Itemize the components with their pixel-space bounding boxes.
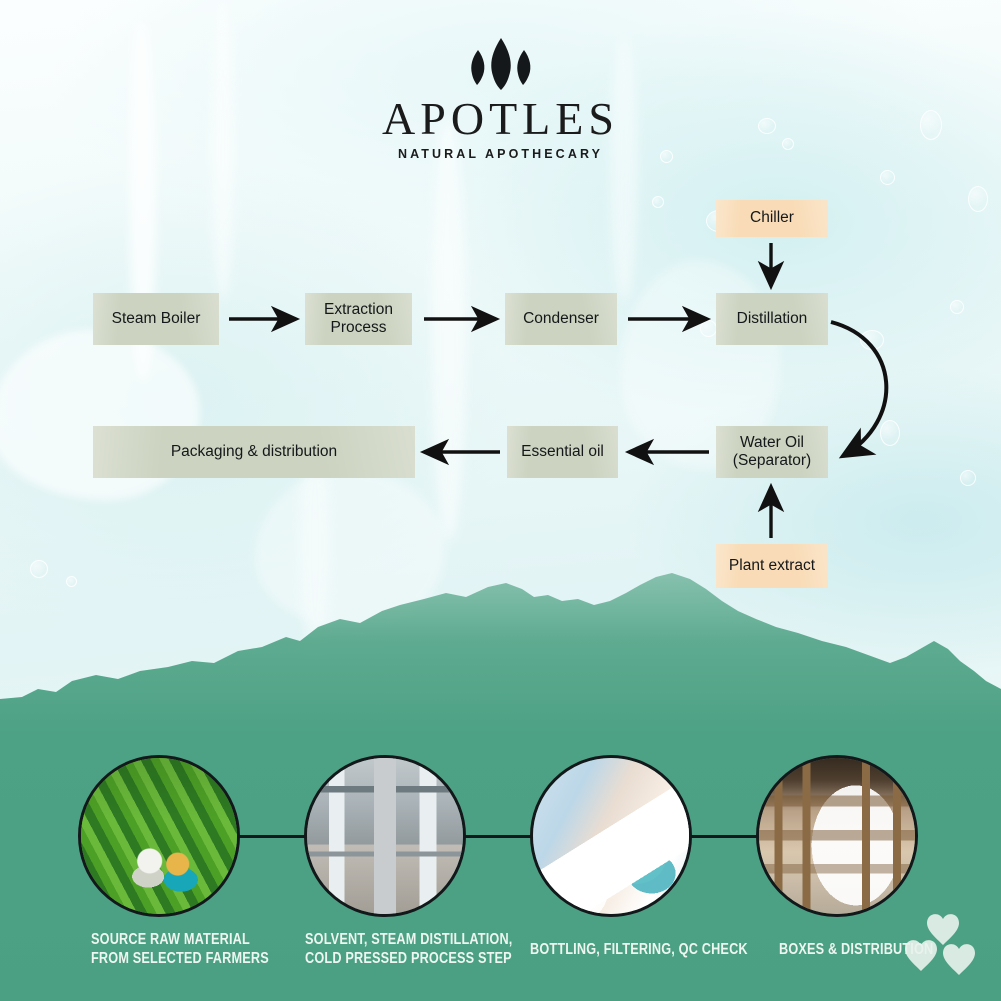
flow-node-label: Water Oil (Separator) xyxy=(733,434,811,471)
timeline-photo-warehouse[interactable] xyxy=(756,755,918,917)
flow-node-water-oil-separator[interactable]: Water Oil (Separator) xyxy=(716,426,828,478)
warehouse-photo xyxy=(759,758,915,914)
flow-node-label: Essential oil xyxy=(521,443,604,461)
flow-node-label: Chiller xyxy=(750,209,794,227)
process-timeline: SOURCE RAW MATERIAL FROM SELECTED FARMER… xyxy=(0,700,1001,1001)
flow-node-plant-extract[interactable]: Plant extract xyxy=(716,544,828,588)
timeline-photo-source-raw-material[interactable] xyxy=(78,755,240,917)
flow-node-label: Steam Boiler xyxy=(112,310,201,328)
flow-node-label: Plant extract xyxy=(729,557,815,575)
flow-node-condenser[interactable]: Condenser xyxy=(505,293,617,345)
brand-tagline: NATURAL APOTHECARY xyxy=(0,147,1001,161)
timeline-caption-process: SOLVENT, STEAM DISTILLATION, COLD PRESSE… xyxy=(305,931,512,969)
flow-node-steam-boiler[interactable]: Steam Boiler xyxy=(93,293,219,345)
flow-node-chiller[interactable]: Chiller xyxy=(716,200,828,237)
three-hearts-icon xyxy=(903,909,983,989)
flow-node-extraction-process[interactable]: Extraction Process xyxy=(305,293,412,345)
lab-technician-photo xyxy=(533,758,689,914)
tea-field-harvest-photo xyxy=(81,758,237,914)
timeline-photo-lab-qc[interactable] xyxy=(530,755,692,917)
flow-node-label: Distillation xyxy=(737,310,808,328)
brand-logo: APOTLES NATURAL APOTHECARY xyxy=(0,36,1001,161)
flow-node-distillation[interactable]: Distillation xyxy=(716,293,828,345)
flow-node-label: Condenser xyxy=(523,310,599,328)
timeline-caption-source: SOURCE RAW MATERIAL FROM SELECTED FARMER… xyxy=(91,931,269,969)
three-leaf-drops-icon xyxy=(446,36,556,92)
flow-node-label: Packaging & distribution xyxy=(171,443,337,461)
timeline-photo-distillation-plant[interactable] xyxy=(304,755,466,917)
arrow-distillation-to-water-oil xyxy=(831,322,886,456)
distillation-plant-photo xyxy=(307,758,463,914)
brand-name: APOTLES xyxy=(0,96,1001,142)
timeline-caption-qc: BOTTLING, FILTERING, QC CHECK xyxy=(530,941,748,960)
flow-node-packaging-distribution[interactable]: Packaging & distribution xyxy=(93,426,415,478)
infographic-page: APOTLES NATURAL APOTHECARY St xyxy=(0,0,1001,1001)
flow-node-label: Extraction Process xyxy=(324,301,393,338)
flow-node-essential-oil[interactable]: Essential oil xyxy=(507,426,618,478)
